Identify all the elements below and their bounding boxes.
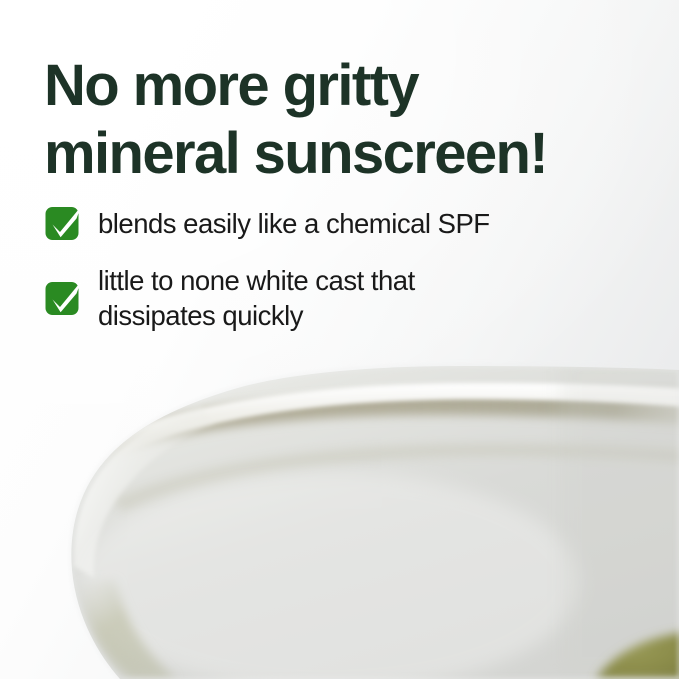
list-item-label: little to none white cast that dissipate… (98, 263, 415, 333)
promo-poster: No more gritty mineral sunscreen! blends… (0, 0, 679, 679)
green-check-box-icon (44, 278, 84, 318)
benefit-list: blends easily like a chemical SPF little… (44, 203, 664, 333)
green-check-box-icon (44, 203, 84, 243)
cream-right-shade (560, 352, 679, 679)
cream-swatch-image (0, 352, 679, 679)
page-title: No more gritty mineral sunscreen! (44, 52, 668, 188)
list-item: little to none white cast that dissipate… (44, 263, 664, 333)
cream-body (0, 352, 679, 679)
cream-swatch-graphic (0, 352, 679, 679)
list-item: blends easily like a chemical SPF (44, 203, 664, 243)
list-item-label: blends easily like a chemical SPF (98, 206, 490, 241)
